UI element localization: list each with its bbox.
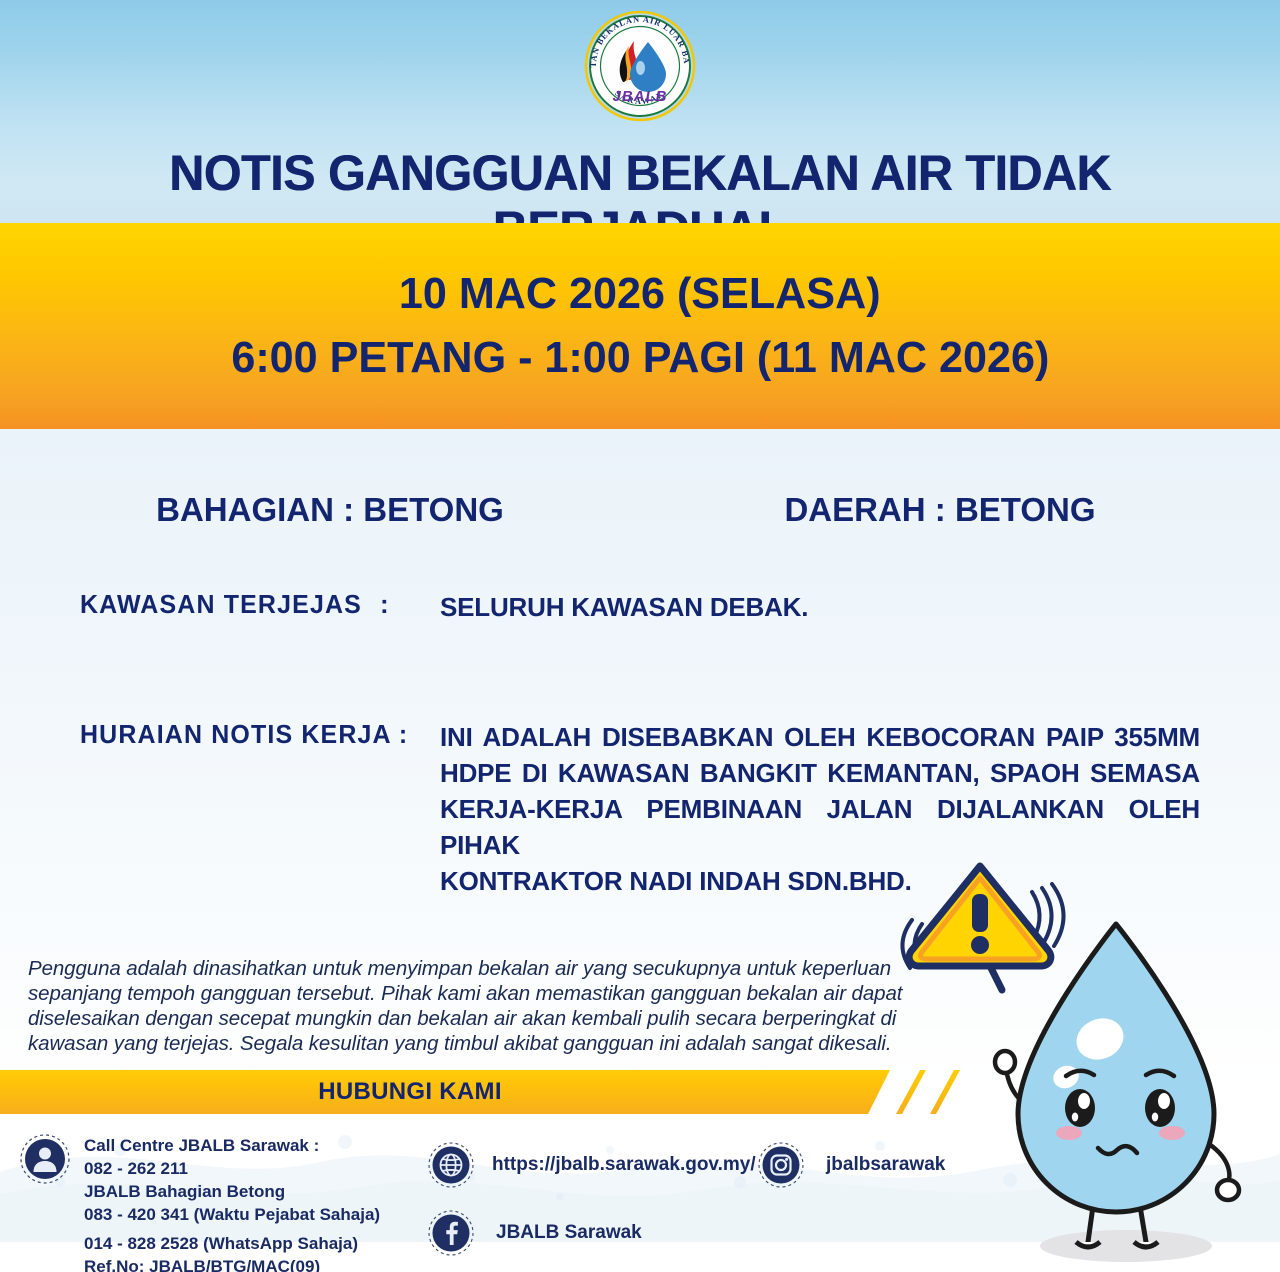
work-description-line-2: HDPE DI KAWASAN BANGKIT KEMANTAN, SPAOH … <box>440 755 1200 791</box>
contact-bar-title: HUBUNGI KAMI <box>0 1070 820 1114</box>
region-row: BAHAGIAN : BETONG DAERAH : BETONG <box>0 491 1280 529</box>
person-icon <box>20 1134 70 1184</box>
facebook-icon <box>428 1210 474 1256</box>
branch-number[interactable]: 083 - 420 341 (Waktu Pejabat Sahaja) <box>84 1203 380 1226</box>
facebook-block[interactable]: JBALB Sarawak <box>428 1210 642 1256</box>
notice-poster: JABATAN BEKALAN AIR LUAR BANDAR SARAWAK … <box>0 0 1280 1272</box>
call-centre-lines: Call Centre JBALB Sarawak : 082 - 262 21… <box>84 1134 380 1272</box>
call-centre-block: Call Centre JBALB Sarawak : 082 - 262 21… <box>20 1134 380 1272</box>
reference-number: Ref.No: JBALB/BTG/MAC(09) <box>84 1255 380 1272</box>
facebook-label[interactable]: JBALB Sarawak <box>496 1210 642 1256</box>
branch-name: JBALB Bahagian Betong <box>84 1180 380 1203</box>
division-cell: BAHAGIAN : BETONG <box>0 491 660 529</box>
district-cell: DAERAH : BETONG <box>660 491 1280 529</box>
work-description-line-1: INI ADALAH DISEBABKAN OLEH KEBOCORAN PAI… <box>440 719 1200 755</box>
division-text: BAHAGIAN : BETONG <box>156 491 504 528</box>
affected-area-label: KAWASAN TERJEJAS <box>80 589 368 625</box>
call-centre-number[interactable]: 082 - 262 211 <box>84 1157 380 1180</box>
affected-area-value: SELURUH KAWASAN DEBAK. <box>440 589 1140 625</box>
website-block[interactable]: https://jbalb.sarawak.gov.my/ <box>428 1142 756 1188</box>
disruption-time: 6:00 PETANG - 1:00 PAGI (11 MAC 2026) <box>231 333 1049 383</box>
affected-area-colon: : <box>380 589 440 625</box>
website-label[interactable]: https://jbalb.sarawak.gov.my/ <box>492 1142 756 1188</box>
whatsapp-number[interactable]: 014 - 828 2528 (WhatsApp Sahaja) <box>84 1232 380 1255</box>
call-centre-title: Call Centre JBALB Sarawak : <box>84 1134 380 1157</box>
work-description-line-3: KERJA-KERJA PEMBINAAN JALAN DIJALANKAN O… <box>440 791 1200 863</box>
work-description-label: HURAIAN NOTIS KERJA : <box>80 719 426 899</box>
disruption-date: 10 MAC 2026 (SELASA) <box>399 269 881 319</box>
date-banner: 10 MAC 2026 (SELASA) 6:00 PETANG - 1:00 … <box>0 223 1280 429</box>
header-band: JABATAN BEKALAN AIR LUAR BANDAR SARAWAK … <box>0 0 1280 224</box>
globe-icon <box>428 1142 474 1188</box>
jbalb-logo-icon: JABATAN BEKALAN AIR LUAR BANDAR SARAWAK … <box>582 8 698 124</box>
instagram-icon <box>758 1142 804 1188</box>
jbalb-logo: JABATAN BEKALAN AIR LUAR BANDAR SARAWAK … <box>582 8 698 124</box>
contact-bar: HUBUNGI KAMI <box>0 1070 1000 1114</box>
svg-text:JBALB: JBALB <box>612 88 667 105</box>
affected-area-field: KAWASAN TERJEJAS : SELURUH KAWASAN DEBAK… <box>80 589 1200 625</box>
advisory-text: Pengguna adalah dinasihatkan untuk menyi… <box>28 956 913 1056</box>
warning-sign-icon <box>890 862 1090 1062</box>
district-text: DAERAH : BETONG <box>784 491 1095 528</box>
